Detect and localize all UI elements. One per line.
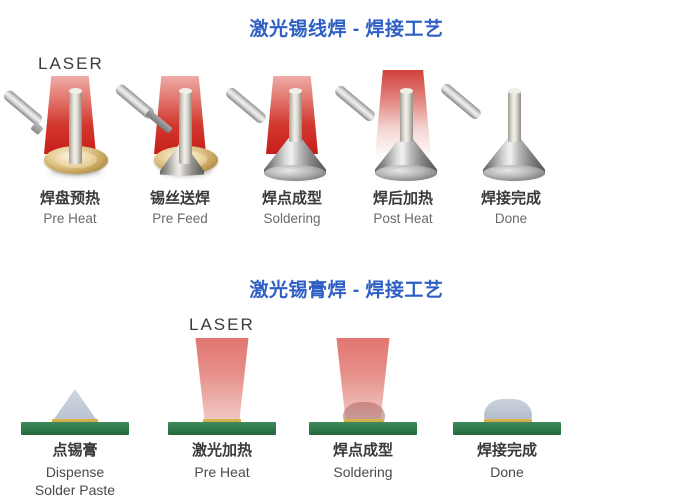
- laser-label: LASER: [38, 54, 104, 74]
- pcb-board: [21, 422, 129, 435]
- caption-en-line1: Dispense: [0, 463, 150, 481]
- paste-stage-row: 点锡膏 Dispense Solder Paste LASER 激光加热 Pre…: [0, 315, 693, 500]
- wire-stage-post-heat: 焊后加热 Post Heat: [347, 48, 459, 238]
- paste-stage-pre-heat: LASER 激光加热 Pre Heat: [147, 315, 297, 500]
- caption-cn: 焊接完成: [455, 190, 567, 209]
- wire-stage-5-caption: 焊接完成 Done: [455, 190, 567, 228]
- caption-en: Pre Feed: [124, 211, 236, 228]
- component-pin-cap: [69, 88, 82, 94]
- component-pin: [69, 90, 82, 164]
- paste-stage-4-art: [432, 315, 582, 440]
- component-pin: [289, 90, 302, 142]
- wire-stage-2-art: [124, 48, 236, 188]
- wire-stage-done: 焊接完成 Done: [455, 48, 567, 238]
- wire-stage-3-art: [236, 48, 348, 188]
- solder-cone-base: [375, 165, 437, 181]
- caption-en-line1: Soldering: [288, 463, 438, 481]
- laser-label: LASER: [189, 315, 255, 335]
- caption-cn: 焊后加热: [347, 190, 459, 209]
- wire-feeder-tool: [2, 89, 44, 127]
- wire-stage-1-art: LASER: [14, 48, 126, 188]
- wire-stage-4-art: [347, 48, 459, 188]
- solder-cone-base: [264, 165, 326, 181]
- component-pin-cap: [179, 88, 192, 94]
- pcb-board: [168, 422, 276, 435]
- caption-en-line1: Pre Heat: [147, 463, 297, 481]
- caption-cn: 焊点成型: [236, 190, 348, 209]
- solder-paste-deposit: [52, 389, 98, 422]
- paste-stage-dispense: 点锡膏 Dispense Solder Paste: [0, 315, 150, 500]
- caption-cn: 焊点成型: [288, 441, 438, 461]
- solder-cone-base: [483, 165, 545, 181]
- paste-stage-soldering: 焊点成型 Soldering: [288, 315, 438, 500]
- component-pin-cap: [508, 88, 521, 94]
- caption-cn: 点锡膏: [0, 441, 150, 461]
- wire-stage-2-caption: 锡丝送焊 Pre Feed: [124, 190, 236, 228]
- paste-stage-2-caption: 激光加热 Pre Heat: [147, 441, 297, 481]
- paste-stage-done: 焊接完成 Done: [432, 315, 582, 500]
- caption-en-line1: Done: [432, 463, 582, 481]
- caption-en: Pre Heat: [14, 211, 126, 228]
- wire-stage-4-caption: 焊后加热 Post Heat: [347, 190, 459, 228]
- component-pin: [508, 90, 521, 142]
- wire-section-title: 激光锡线焊 - 焊接工艺: [0, 14, 693, 41]
- caption-en: Soldering: [236, 211, 348, 228]
- pcb-board: [309, 422, 417, 435]
- wire-stage-pre-feed: 锡丝送焊 Pre Feed: [124, 48, 236, 238]
- component-pin-cap: [289, 88, 302, 94]
- component-pin-cap: [400, 88, 413, 94]
- paste-stage-1-caption: 点锡膏 Dispense Solder Paste: [0, 441, 150, 499]
- wire-feeder-tip: [30, 122, 43, 135]
- caption-cn: 激光加热: [147, 441, 297, 461]
- paste-stage-1-art: [0, 315, 150, 440]
- caption-cn: 锡丝送焊: [124, 190, 236, 209]
- wire-stage-row: LASER 焊盘预热 Pre Heat: [0, 48, 693, 238]
- caption-en: Post Heat: [347, 211, 459, 228]
- wire-stage-5-art: [455, 48, 567, 188]
- paste-stage-2-art: LASER: [147, 315, 297, 440]
- paste-soldering-section: 激光锡膏焊 - 焊接工艺 点锡膏 Dispense Solder Paste L…: [0, 275, 693, 500]
- paste-stage-3-art: [288, 315, 438, 440]
- paste-section-title: 激光锡膏焊 - 焊接工艺: [0, 275, 693, 302]
- laser-beam: [183, 338, 261, 423]
- component-pin: [400, 90, 413, 142]
- caption-cn: 焊接完成: [432, 441, 582, 461]
- component-pin: [179, 90, 192, 164]
- paste-stage-3-caption: 焊点成型 Soldering: [288, 441, 438, 481]
- caption-en-line2: Solder Paste: [0, 481, 150, 499]
- wire-stage-soldering: 焊点成型 Soldering: [236, 48, 348, 238]
- wire-stage-3-caption: 焊点成型 Soldering: [236, 190, 348, 228]
- caption-cn: 焊盘预热: [14, 190, 126, 209]
- caption-en: Done: [455, 211, 567, 228]
- pcb-board: [453, 422, 561, 435]
- wire-stage-pre-heat: LASER 焊盘预热 Pre Heat: [14, 48, 126, 238]
- paste-stage-4-caption: 焊接完成 Done: [432, 441, 582, 481]
- wire-soldering-section: 激光锡线焊 - 焊接工艺 LASER 焊盘预热 Pre Heat: [0, 0, 693, 250]
- wire-stage-1-caption: 焊盘预热 Pre Heat: [14, 190, 126, 228]
